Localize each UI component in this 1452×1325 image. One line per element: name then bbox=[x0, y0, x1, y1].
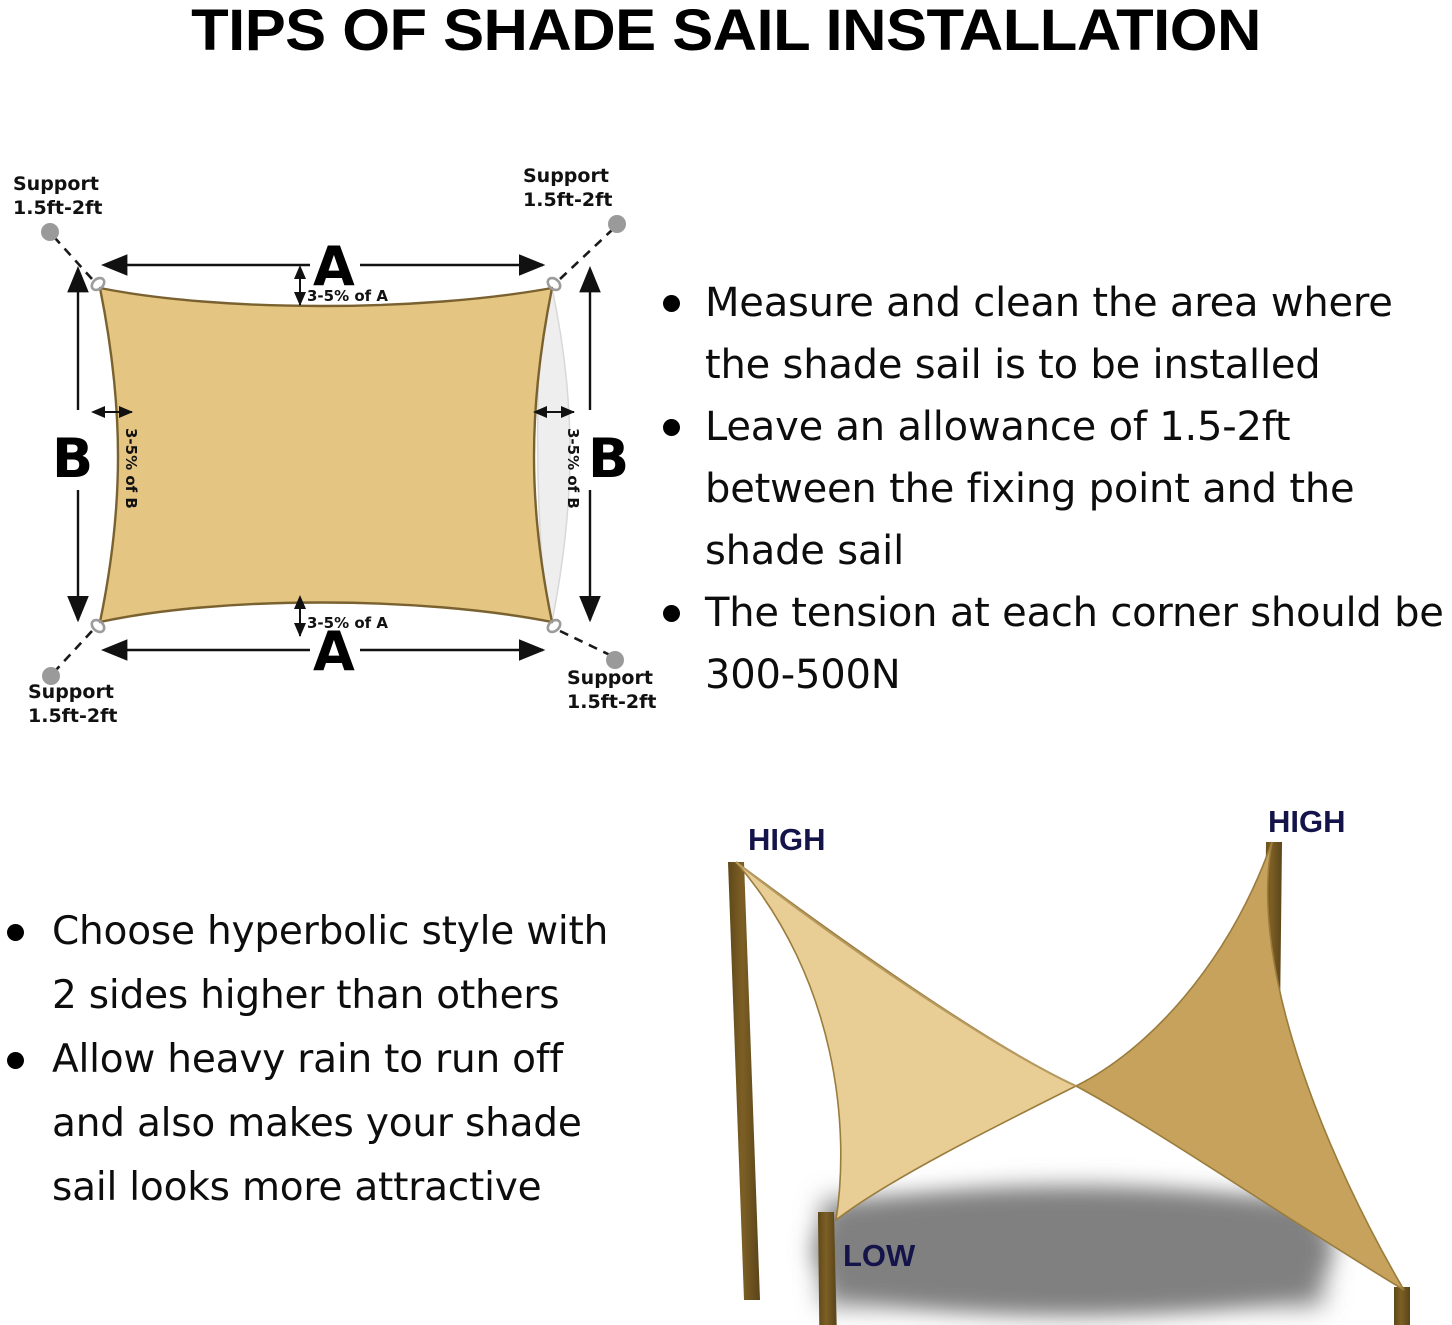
list-item-text: The tension at each corner should be 300… bbox=[705, 590, 1444, 698]
list-item-text: Choose hyperbolic style with 2 sides hig… bbox=[52, 909, 608, 1018]
bullet-dot-icon bbox=[663, 605, 680, 622]
list-item: Choose hyperbolic style with 2 sides hig… bbox=[2, 900, 627, 1028]
support-label-top-left-line2: 1.5ft-2ft bbox=[13, 197, 102, 219]
pole-low-right bbox=[1394, 1287, 1410, 1325]
label-high-left: HIGH bbox=[748, 822, 826, 857]
list-item: Allow heavy rain to run off and also mak… bbox=[2, 1028, 627, 1220]
installation-tips-list: Measure and clean the area where the sha… bbox=[655, 272, 1452, 706]
infographic-page: TIPS OF SHADE SAIL INSTALLATION bbox=[0, 0, 1452, 1325]
pole-high-left bbox=[728, 862, 760, 1300]
support-label-bottom-right-line2: 1.5ft-2ft bbox=[567, 691, 656, 713]
curve-depth-label-b-left: 3-5% of B bbox=[122, 428, 140, 509]
dimension-label-b-left: B bbox=[52, 427, 93, 490]
list-item-text: Allow heavy rain to run off and also mak… bbox=[52, 1037, 582, 1210]
curve-depth-label-a-bottom: 3-5% of A bbox=[307, 614, 388, 632]
bullet-dot-icon bbox=[663, 295, 680, 312]
shade-sail-shape bbox=[100, 288, 552, 622]
bullet-dot-icon bbox=[7, 1052, 24, 1069]
support-label-top-left-line1: Support bbox=[13, 173, 99, 195]
sail-panel-light bbox=[736, 862, 1076, 1220]
bullet-dot-icon bbox=[663, 419, 680, 436]
curve-depth-label-a-top: 3-5% of A bbox=[307, 287, 388, 305]
support-dot-top-right bbox=[608, 215, 626, 233]
bullet-dot-icon bbox=[7, 924, 24, 941]
list-item: Leave an allowance of 1.5-2ft between th… bbox=[655, 396, 1452, 582]
label-high-right: HIGH bbox=[1268, 804, 1346, 839]
hyperbolic-tips-list: Choose hyperbolic style with 2 sides hig… bbox=[2, 900, 627, 1220]
shade-sail-dimension-diagram: Support 1.5ft-2ft Support 1.5ft-2ft Supp… bbox=[0, 160, 660, 730]
list-item: Measure and clean the area where the sha… bbox=[655, 272, 1452, 396]
hyperbolic-shade-sail-illustration: HIGH HIGH LOW LOW bbox=[688, 800, 1452, 1325]
support-label-bottom-right-line1: Support bbox=[567, 667, 653, 689]
list-item-text: Measure and clean the area where the sha… bbox=[705, 280, 1393, 388]
list-item: The tension at each corner should be 300… bbox=[655, 582, 1452, 706]
support-label-bottom-left-line2: 1.5ft-2ft bbox=[28, 705, 117, 727]
curve-depth-label-b-right: 3-5% of B bbox=[564, 428, 582, 509]
support-label-top-right-line2: 1.5ft-2ft bbox=[523, 189, 612, 211]
page-title: TIPS OF SHADE SAIL INSTALLATION bbox=[0, 2, 1452, 60]
list-item-text: Leave an allowance of 1.5-2ft between th… bbox=[705, 404, 1354, 574]
support-label-bottom-left-line1: Support bbox=[28, 681, 114, 703]
pole-low-left-lower bbox=[818, 1212, 836, 1325]
dimension-label-b-right: B bbox=[588, 427, 629, 490]
support-label-top-right-line1: Support bbox=[523, 165, 609, 187]
label-low-left: LOW bbox=[843, 1238, 916, 1273]
support-dot-top-left bbox=[41, 223, 59, 241]
